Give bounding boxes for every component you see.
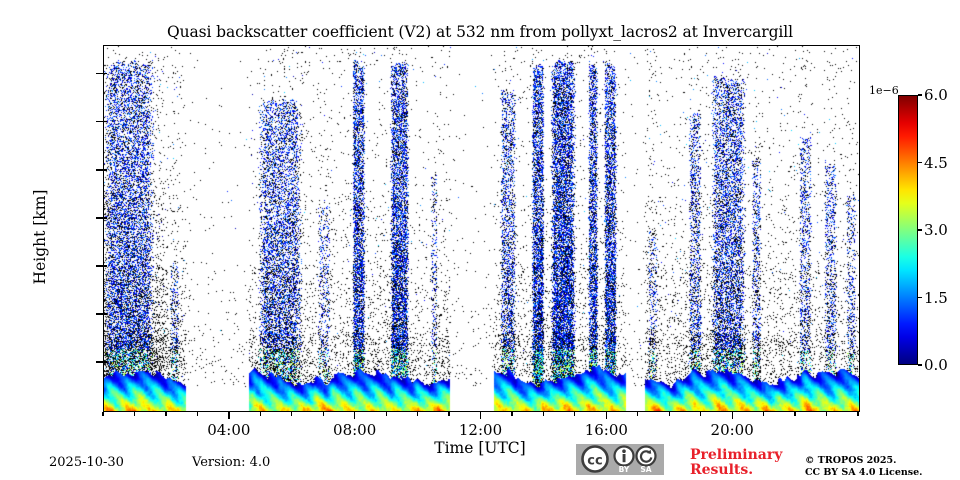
x-tick-label: 20:00 (711, 421, 754, 439)
cc-by-sa-badge[interactable]: cc BY SA (576, 444, 664, 475)
x-tick-label: 16:00 (585, 421, 628, 439)
colorbar-tick-mark (918, 229, 922, 230)
x-tick-mark-minor (794, 412, 795, 416)
y-tick-mark-inner (103, 361, 107, 362)
x-tick-mark-minor (291, 412, 292, 416)
svg-text:cc: cc (587, 454, 602, 469)
plot-axes (103, 45, 860, 412)
colorbar-tick-label: 4.5 (924, 154, 948, 172)
x-tick-mark-major (228, 412, 229, 419)
footer-date: 2025-10-30 (49, 455, 124, 470)
x-tick-mark-minor (134, 412, 135, 416)
x-tick-mark-minor (323, 412, 324, 416)
cc-sa-text: SA (640, 465, 651, 474)
x-tick-mark-minor (700, 412, 701, 416)
x-tick-mark-minor (763, 412, 764, 416)
y-tick-mark (96, 361, 103, 362)
colorbar-offset-label: 1e−6 (869, 84, 899, 97)
preliminary-line-2: Results. (690, 463, 800, 478)
y-tick-mark-inner (103, 217, 107, 218)
y-axis-label: Height [km] (31, 157, 49, 317)
copyright-note: © TROPOS 2025. CC BY SA 4.0 License. (805, 455, 955, 479)
x-tick-mark-minor (574, 412, 575, 416)
x-tick-label: 12:00 (459, 421, 502, 439)
cc-badge-icon: cc BY SA (576, 444, 664, 475)
y-tick-mark-inner (103, 73, 107, 74)
colorbar-tick-mark (918, 162, 922, 163)
colorbar-tick-mark (918, 94, 922, 95)
y-tick-mark (96, 73, 103, 74)
x-tick-mark-minor (637, 412, 638, 416)
x-tick-mark-major (480, 412, 481, 419)
x-tick-mark-minor (826, 412, 827, 416)
figure-canvas: Quasi backscatter coefficient (V2) at 53… (0, 0, 960, 480)
x-tick-mark-major (354, 412, 355, 419)
colorbar-tick-label: 1.5 (924, 289, 948, 307)
quicklook-heatmap (104, 46, 859, 411)
x-tick-mark-minor (857, 412, 858, 416)
copyright-line-1: © TROPOS 2025. (805, 455, 955, 467)
y-tick-mark-inner (103, 313, 107, 314)
preliminary-results-note: Preliminary Results. (690, 448, 800, 478)
colorbar-tick-label: 0.0 (924, 356, 948, 374)
x-tick-mark-major (606, 412, 607, 419)
preliminary-line-1: Preliminary (690, 448, 800, 463)
x-tick-mark-minor (417, 412, 418, 416)
colorbar-tick-mark (918, 297, 922, 298)
colorbar (898, 95, 918, 365)
y-tick-mark-inner (103, 169, 107, 170)
cc-by-text: BY (619, 465, 630, 474)
y-tick-mark (96, 313, 103, 314)
x-tick-mark-minor (669, 412, 670, 416)
x-tick-mark-major (732, 412, 733, 419)
copyright-line-2: CC BY SA 4.0 License. (805, 467, 955, 479)
x-tick-mark-minor (260, 412, 261, 416)
x-tick-mark-minor (386, 412, 387, 416)
y-tick-mark (96, 121, 103, 122)
x-tick-mark-minor (102, 412, 103, 416)
page-title: Quasi backscatter coefficient (V2) at 53… (0, 23, 960, 41)
y-tick-mark-inner (103, 121, 107, 122)
x-tick-mark-minor (197, 412, 198, 416)
colorbar-gradient (898, 95, 918, 365)
x-tick-label: 08:00 (333, 421, 376, 439)
x-tick-label: 04:00 (207, 421, 250, 439)
x-tick-mark-minor (448, 412, 449, 416)
y-tick-mark (96, 265, 103, 266)
colorbar-tick-label: 6.0 (924, 86, 948, 104)
y-tick-mark (96, 169, 103, 170)
x-tick-mark-minor (165, 412, 166, 416)
x-tick-mark-minor (511, 412, 512, 416)
y-tick-mark (96, 217, 103, 218)
x-tick-mark-minor (543, 412, 544, 416)
footer-version: Version: 4.0 (192, 455, 270, 470)
colorbar-tick-mark (918, 364, 922, 365)
y-tick-mark-inner (103, 265, 107, 266)
colorbar-tick-label: 3.0 (924, 221, 948, 239)
